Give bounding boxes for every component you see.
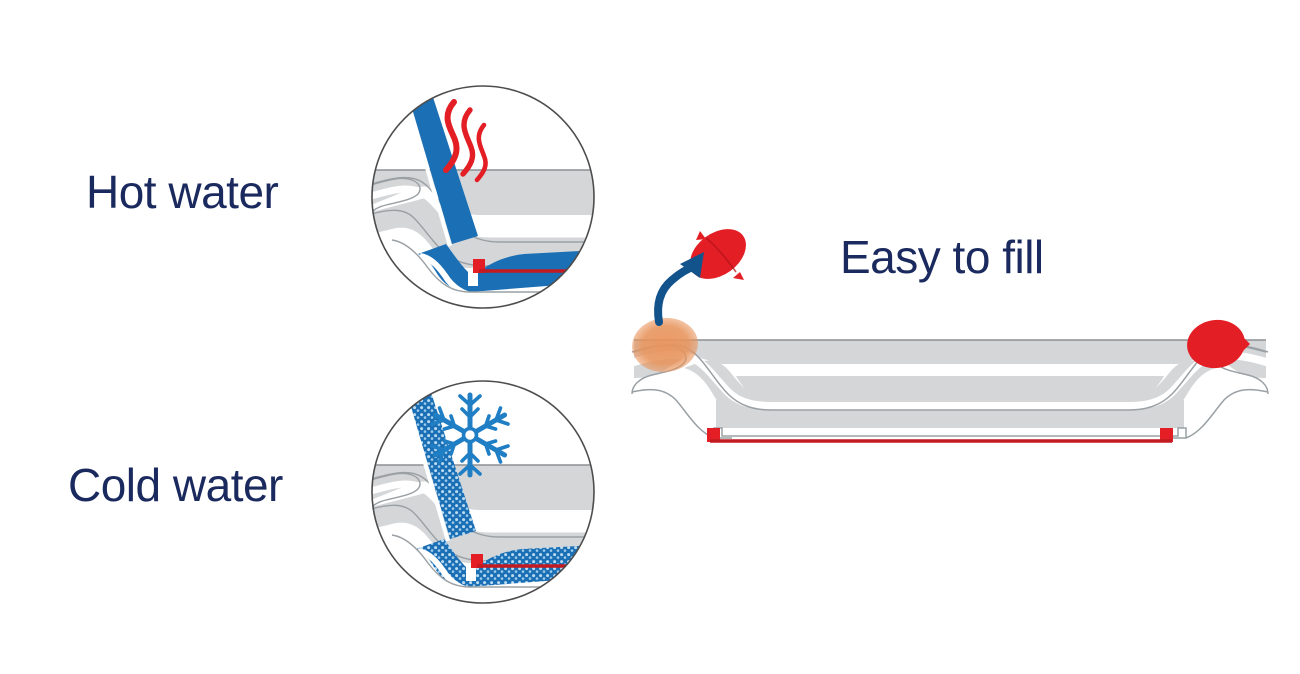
cold-water-detail-circle <box>368 379 598 607</box>
pan-base-contour <box>714 428 1186 438</box>
plug-removal-arrow <box>658 252 704 322</box>
removed-plug[interactable] <box>681 219 756 289</box>
diagram-canvas: Hot water Cold water Easy to fill <box>0 0 1300 674</box>
hot-water-detail-circle <box>368 84 598 312</box>
main-pan-assembly <box>629 219 1268 442</box>
diagram-artwork <box>0 0 1300 674</box>
pan-basin-fill <box>736 376 1164 402</box>
